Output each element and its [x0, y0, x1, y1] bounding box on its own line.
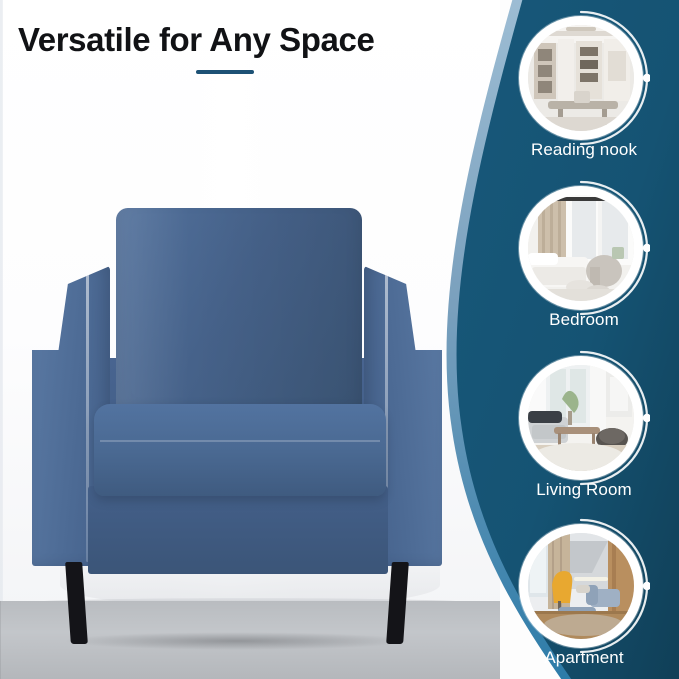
thumbnail-bedroom: [528, 195, 634, 301]
product-photo: [0, 0, 500, 679]
card-label: Bedroom: [489, 310, 679, 330]
marketing-banner: Versatile for Any Space: [0, 0, 679, 679]
thumbnail-living-room: [528, 365, 634, 471]
thumbnail-reading-nook: [528, 25, 634, 131]
chair-base: [88, 486, 388, 574]
title-underline-accent: [196, 70, 254, 74]
chair-shadow: [62, 632, 412, 650]
card-label: Living Room: [489, 480, 679, 500]
card-ring-living-room: [519, 356, 643, 480]
card-label: Reading nook: [489, 140, 679, 160]
page-title: Versatile for Any Space: [18, 22, 468, 59]
chair-backrest-cushion: [116, 208, 362, 423]
card-ring-apartment: [519, 524, 643, 648]
chair-seat-cushion: [94, 404, 386, 496]
thumbnail-apartment: [528, 533, 634, 639]
armchair: [32, 208, 442, 638]
card-label: Apartment: [489, 648, 679, 668]
use-case-card-list: Reading nook: [489, 0, 679, 679]
card-ring-reading-nook: [519, 16, 643, 140]
card-ring-bedroom: [519, 186, 643, 310]
